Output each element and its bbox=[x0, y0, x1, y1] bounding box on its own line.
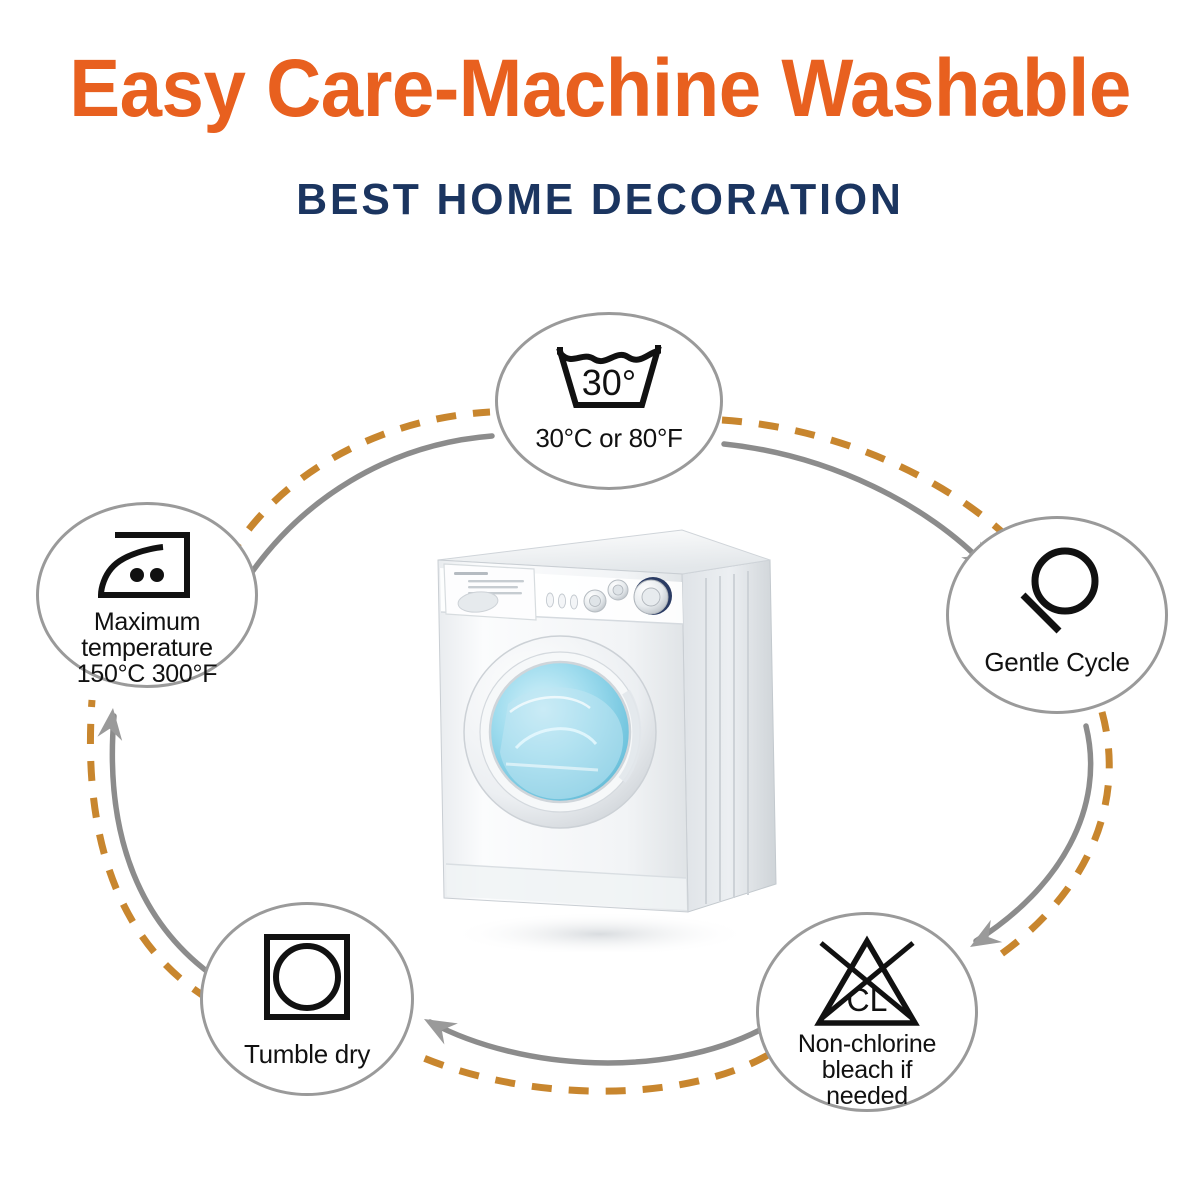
arrowhead-to-tumble-dry bbox=[418, 1008, 458, 1045]
solid-arc-gentle-to-bleach bbox=[976, 726, 1091, 941]
dashed-arc-bleach-to-tumble bbox=[412, 1053, 768, 1091]
tumble-dry-icon bbox=[203, 931, 411, 1023]
dashed-arc-tumble-to-iron bbox=[90, 700, 210, 1000]
cycle-node-gentle-cycle[interactable]: Gentle Cycle bbox=[946, 516, 1168, 714]
no-chlorine-bleach-icon: CL bbox=[759, 933, 975, 1029]
washing-machine-image bbox=[420, 512, 792, 952]
svg-text:30°: 30° bbox=[582, 362, 636, 403]
cycle-node-non-chlorine-bleach[interactable]: CL Non-chlorine bleach if needed bbox=[756, 912, 978, 1112]
iron-two-dots-icon bbox=[39, 529, 255, 603]
solid-arc-bleach-to-tumble bbox=[430, 1022, 760, 1063]
cycle-node-caption: 30°C or 80°F bbox=[535, 425, 682, 452]
cycle-node-caption: Non-chlorine bleach if needed bbox=[798, 1031, 936, 1109]
gentle-cycle-icon bbox=[949, 543, 1165, 639]
poster-canvas: Easy Care-Machine Washable BEST HOME DEC… bbox=[0, 0, 1200, 1200]
cycle-node-tumble-dry[interactable]: Tumble dry bbox=[200, 902, 414, 1096]
svg-text:CL: CL bbox=[847, 982, 888, 1018]
cycle-node-caption: Tumble dry bbox=[244, 1041, 370, 1068]
cycle-node-caption: Gentle Cycle bbox=[984, 649, 1129, 676]
cycle-node-caption: Maximum temperature 150°C 300°F bbox=[77, 609, 217, 687]
cycle-node-iron-max-temperature[interactable]: Maximum temperature 150°C 300°F bbox=[36, 502, 258, 688]
dashed-arc-gentle-to-bleach bbox=[1000, 712, 1109, 955]
cycle-node-wash-temperature[interactable]: 30° 30°C or 80°F bbox=[495, 312, 723, 490]
wash-tub-30-icon: 30° bbox=[498, 337, 720, 413]
